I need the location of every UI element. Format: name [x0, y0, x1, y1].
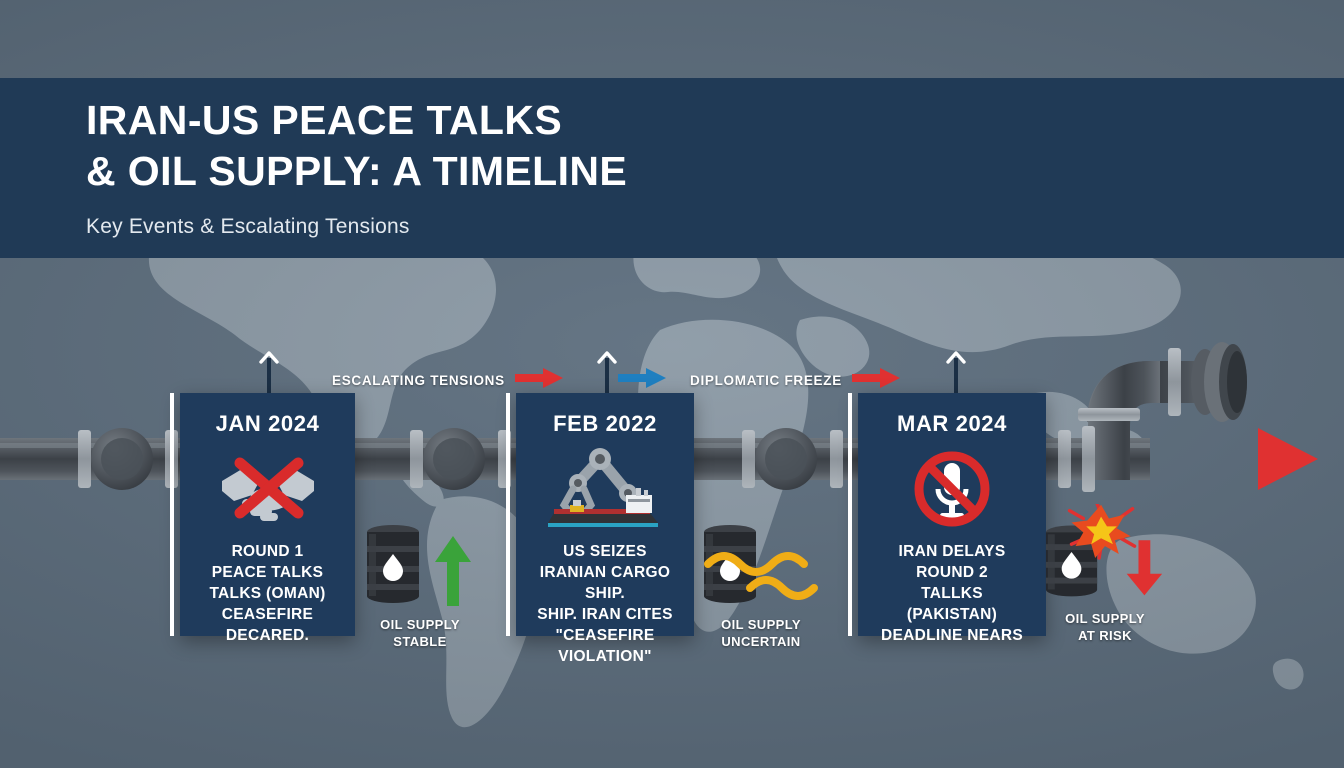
page-title: IRAN-US PEACE TALKS & OIL SUPPLY: A TIME… [86, 95, 627, 197]
card-description: IRAN DELAYS ROUND 2 TALLKS (PAKISTAN) DE… [858, 541, 1046, 646]
muted-microphone-icon [858, 443, 1046, 535]
green-up-arrow-icon [435, 536, 471, 606]
oil-status-at-risk: OIL SUPPLY AT RISK [1040, 512, 1170, 644]
oil-barrel-explosion-icon [1040, 504, 1170, 604]
timeline-card-jan-2024[interactable]: JAN 2024 ROUND 1 PEACE TALKS TALKS (OMAN… [180, 393, 355, 636]
crane-seizing-cargo-ship-icon [516, 443, 694, 535]
oil-barrel-icon [698, 518, 824, 610]
timeline-card-feb-2022[interactable]: FEB 2022 [516, 393, 694, 636]
oil-status-caption: OIL SUPPLY STABLE [355, 616, 485, 650]
card-accent-bar [170, 393, 174, 636]
timeline-card-mar-2024[interactable]: MAR 2024 IRAN DELAYS ROUND 2 TALLKS (PAK… [858, 393, 1046, 636]
broken-handshake-icon [180, 443, 355, 535]
oil-status-caption: OIL SUPPLY UNCERTAIN [696, 616, 826, 650]
connector-diplomatic-freeze: DIPLOMATIC FREEZE [690, 368, 900, 393]
header-band: IRAN-US PEACE TALKS & OIL SUPPLY: A TIME… [0, 78, 1344, 258]
stem-arrowhead-2 [597, 350, 617, 364]
red-arrow-icon [515, 368, 563, 393]
card-accent-bar [848, 393, 852, 636]
card-accent-bar [506, 393, 510, 636]
red-arrow-icon [852, 368, 900, 393]
oil-status-uncertain: OIL SUPPLY UNCERTAIN [696, 518, 826, 650]
card-description: US SEIZES IRANIAN CARGO SHIP. SHIP. IRAN… [516, 541, 694, 667]
card-description: ROUND 1 PEACE TALKS TALKS (OMAN) CEASEFI… [180, 541, 355, 646]
oil-status-caption: OIL SUPPLY AT RISK [1040, 610, 1170, 644]
oil-status-stable: OIL SUPPLY STABLE [355, 518, 485, 650]
oil-barrel-icon [361, 518, 479, 610]
card-date: MAR 2024 [858, 411, 1046, 437]
page-subtitle: Key Events & Escalating Tensions [86, 215, 410, 239]
stem-arrowhead-3 [946, 350, 966, 364]
connector-label: ESCALATING TENSIONS [332, 373, 505, 388]
infographic-canvas: IRAN-US PEACE TALKS & OIL SUPPLY: A TIME… [0, 0, 1344, 768]
connector-escalating-tensions: ESCALATING TENSIONS [332, 368, 563, 393]
red-down-arrow-icon [1127, 540, 1162, 595]
card-date: JAN 2024 [180, 411, 355, 437]
blue-arrow-icon [618, 368, 666, 393]
stem-arrowhead-1 [259, 350, 279, 364]
connector-label: DIPLOMATIC FREEZE [690, 373, 842, 388]
card-date: FEB 2022 [516, 411, 694, 437]
